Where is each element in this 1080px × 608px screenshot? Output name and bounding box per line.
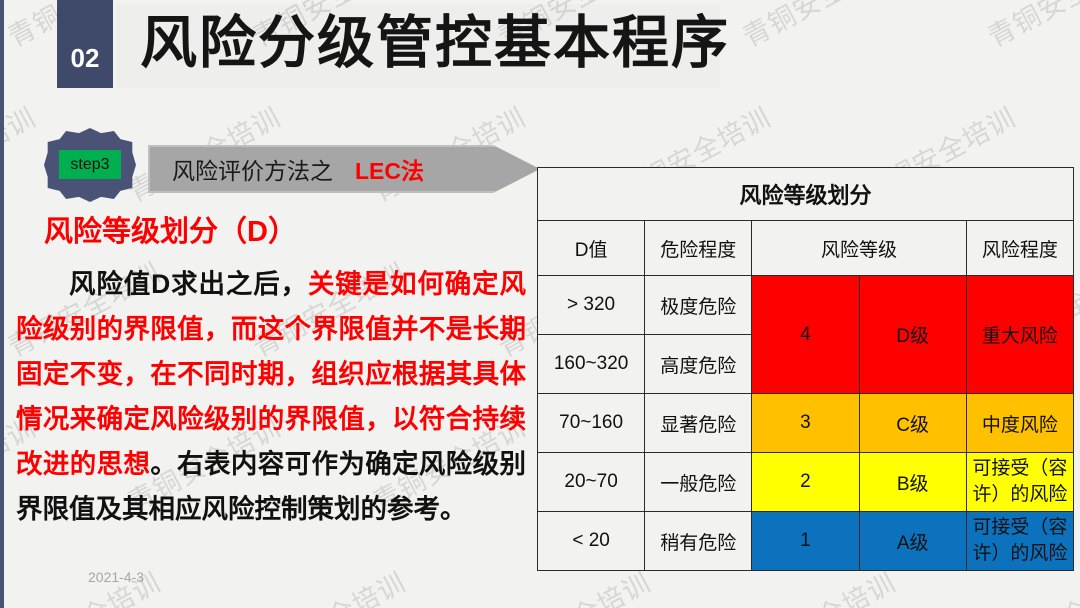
section-number-label: 02 (57, 0, 113, 88)
risk-grading-table: 风险等级划分D值危险程度风险等级风险程度> 320极度危险4D级重大风险160~… (537, 167, 1074, 571)
table-row: 70~160显著危险3C级中度风险 (538, 394, 1074, 453)
step-badge-label: step3 (59, 150, 121, 179)
paragraph-run-0: 风险值D求出之后， (69, 269, 308, 299)
cell-risk-degree: 重大风险 (966, 276, 1073, 394)
banner-text-group: 风险评价方法之 LEC法 (172, 145, 424, 193)
table-header-cell: D值 (538, 221, 645, 276)
content-subheading: 风险等级划分（D） (44, 208, 297, 250)
risk-table-container: 风险等级划分D值危险程度风险等级风险程度> 320极度危险4D级重大风险160~… (537, 167, 1074, 571)
section-banner: 风险评价方法之 LEC法 (148, 145, 540, 193)
cell-level-number: 3 (752, 394, 859, 453)
table-header-cell: 危险程度 (645, 221, 752, 276)
cell-risk-degree: 可接受（容许）的风险 (966, 453, 1073, 512)
watermark-text: 青铜安全培训 (980, 0, 1080, 54)
date-stamp: 2021-4-3 (88, 569, 144, 585)
cell-level-number: 4 (752, 276, 859, 394)
cell-d-value: 70~160 (538, 394, 645, 453)
table-row: 20~70一般危险2B级可接受（容许）的风险 (538, 453, 1074, 512)
watermark-text: 青铜安全培训 (735, 0, 902, 54)
cell-level-grade: C级 (859, 394, 966, 453)
table-header-cell: 风险程度 (966, 221, 1073, 276)
cell-danger-degree: 一般危险 (645, 453, 752, 512)
cell-level-grade: A级 (859, 512, 966, 571)
cell-d-value: > 320 (538, 276, 645, 335)
cell-d-value: 160~320 (538, 335, 645, 394)
page-title: 风险分级管控基本程序 (140, 4, 720, 88)
table-title-cell: 风险等级划分 (538, 168, 1074, 221)
cell-risk-degree: 中度风险 (966, 394, 1073, 453)
table-row: < 20稍有危险1A级可接受（容许）的风险 (538, 512, 1074, 571)
cell-d-value: 20~70 (538, 453, 645, 512)
content-paragraph: 风险值D求出之后，关键是如何确定风险级别的界限值，而这个界限值并不是长期固定不变… (16, 262, 526, 532)
cell-level-grade: D级 (859, 276, 966, 394)
cell-risk-degree: 可接受（容许）的风险 (966, 512, 1073, 571)
cell-level-number: 2 (752, 453, 859, 512)
watermark-text: 青铜安全培训 (245, 561, 412, 608)
slide-canvas: 青铜安全培训青铜安全培训青铜安全培训青铜安全培训青铜安全培训青铜安全培训青铜安全… (0, 0, 1080, 608)
banner-accent-text: LEC法 (355, 152, 424, 186)
table-title-row: 风险等级划分 (538, 168, 1074, 221)
cell-danger-degree: 极度危险 (645, 276, 752, 335)
cell-level-grade: B级 (859, 453, 966, 512)
cell-danger-degree: 稍有危险 (645, 512, 752, 571)
table-row: > 320极度危险4D级重大风险 (538, 276, 1074, 335)
banner-main-text: 风险评价方法之 (172, 152, 333, 186)
paragraph-run-1: 关键是如何确定风险级别的界限值，而这个界限值并不是长期固定不变，在不同时期，组织… (16, 269, 526, 479)
table-header-cell: 风险等级 (752, 221, 966, 276)
slide-left-accent-bar (0, 0, 4, 608)
cell-d-value: < 20 (538, 512, 645, 571)
table-header-row: D值危险程度风险等级风险程度 (538, 221, 1074, 276)
cell-level-number: 1 (752, 512, 859, 571)
step-badge: step3 (44, 128, 136, 202)
cell-danger-degree: 显著危险 (645, 394, 752, 453)
watermark-text: 青铜安全培训 (0, 96, 42, 209)
cell-danger-degree: 高度危险 (645, 335, 752, 394)
